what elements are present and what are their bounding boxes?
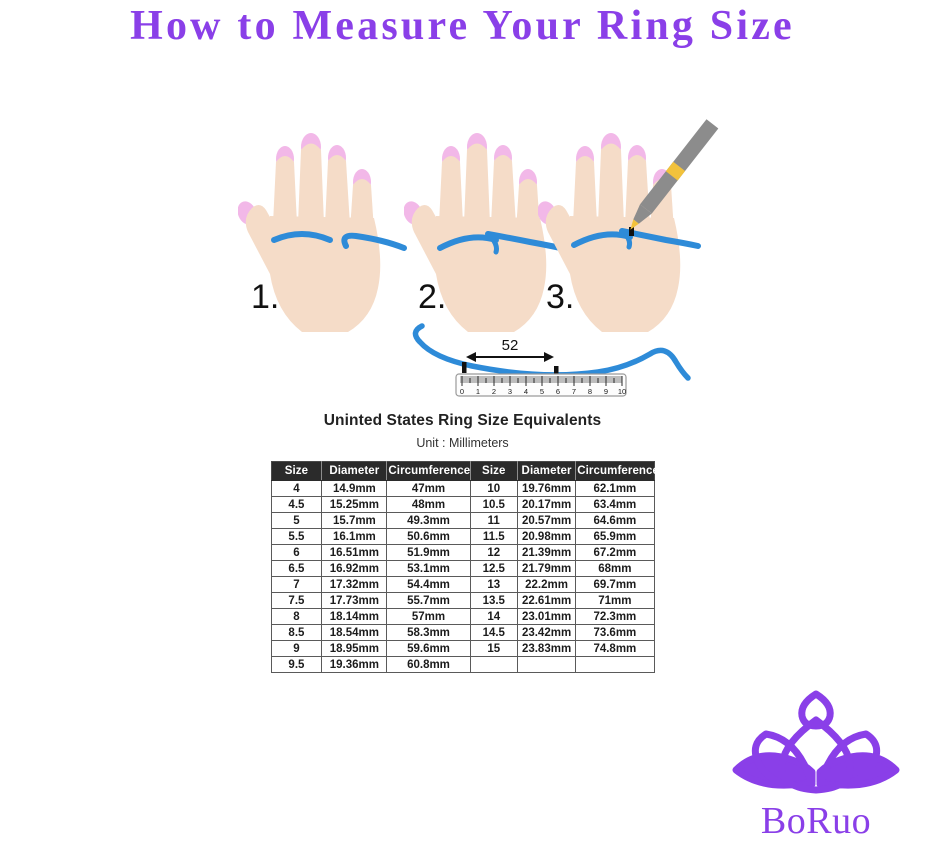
table-cell: 20.98mm — [517, 529, 575, 545]
instruction-illustration: 1. 2. — [0, 95, 925, 415]
table-cell: 73.6mm — [576, 625, 654, 641]
table-cell: 9 — [271, 641, 322, 657]
table-cell: 11.5 — [470, 529, 517, 545]
lotus-flower-icon — [716, 686, 916, 804]
table-cell: 16.51mm — [322, 545, 387, 561]
boruo-logo: BoRuo — [716, 686, 916, 838]
col-header-diameter-right: Diameter — [517, 462, 575, 481]
table-cell: 49.3mm — [387, 513, 470, 529]
table-title: Uninted States Ring Size Equivalents — [0, 412, 925, 430]
table-cell: 50.6mm — [387, 529, 470, 545]
table-cell: 67.2mm — [576, 545, 654, 561]
col-header-diameter-left: Diameter — [322, 462, 387, 481]
ruler-tick-label: 10 — [618, 387, 626, 396]
boruo-wordmark: BoRuo — [716, 802, 916, 840]
table-row: 918.95mm59.6mm1523.83mm74.8mm — [271, 641, 654, 657]
table-cell: 18.54mm — [322, 625, 387, 641]
table-cell: 15 — [470, 641, 517, 657]
table-cell: 14 — [470, 609, 517, 625]
table-cell: 7 — [271, 577, 322, 593]
table-unit-label: Unit : Millimeters — [0, 436, 925, 450]
step-number-1: 1. — [251, 280, 279, 314]
table-cell: 19.76mm — [517, 481, 575, 497]
table-cell: 16.1mm — [322, 529, 387, 545]
col-header-size-left: Size — [271, 462, 322, 481]
ruler-tick-label: 5 — [540, 387, 544, 396]
ruler-tick-label: 2 — [492, 387, 496, 396]
step-number-2: 2. — [418, 280, 446, 314]
table-cell: 62.1mm — [576, 481, 654, 497]
table-cell: 58.3mm — [387, 625, 470, 641]
table-row: 717.32mm54.4mm1322.2mm69.7mm — [271, 577, 654, 593]
table-cell: 20.57mm — [517, 513, 575, 529]
ruler-tick-label: 9 — [604, 387, 608, 396]
table-cell: 18.95mm — [322, 641, 387, 657]
table-row: 5.516.1mm50.6mm11.520.98mm65.9mm — [271, 529, 654, 545]
table-cell: 21.39mm — [517, 545, 575, 561]
table-cell: 19.36mm — [322, 657, 387, 673]
table-row: 6.516.92mm53.1mm12.521.79mm68mm — [271, 561, 654, 577]
table-cell: 12.5 — [470, 561, 517, 577]
page-title: How to Measure Your Ring Size — [0, 2, 925, 50]
table-cell: 6 — [271, 545, 322, 561]
ruler-tick-label: 1 — [476, 387, 480, 396]
ruler-tick-label: 3 — [508, 387, 512, 396]
table-cell: 13 — [470, 577, 517, 593]
col-header-circumference-right: Circumference — [576, 462, 654, 481]
table-cell: 69.7mm — [576, 577, 654, 593]
table-cell: 16.92mm — [322, 561, 387, 577]
ring-size-table: Size Diameter Circumference Size Diamete… — [271, 461, 655, 673]
col-header-circumference-left: Circumference — [387, 462, 470, 481]
col-header-size-right: Size — [470, 462, 517, 481]
table-cell: 4.5 — [271, 497, 322, 513]
table-row: 616.51mm51.9mm1221.39mm67.2mm — [271, 545, 654, 561]
table-cell: 5.5 — [271, 529, 322, 545]
table-cell: 53.1mm — [387, 561, 470, 577]
table-cell: 14.5 — [470, 625, 517, 641]
ruler-tick-label: 8 — [588, 387, 592, 396]
table-cell: 8 — [271, 609, 322, 625]
table-cell: 54.4mm — [387, 577, 470, 593]
table-cell: 18.14mm — [322, 609, 387, 625]
table-cell: 23.42mm — [517, 625, 575, 641]
table-cell: 22.2mm — [517, 577, 575, 593]
table-row: 9.519.36mm60.8mm — [271, 657, 654, 673]
table-row: 515.7mm49.3mm1120.57mm64.6mm — [271, 513, 654, 529]
table-cell — [470, 657, 517, 673]
table-cell: 74.8mm — [576, 641, 654, 657]
table-header-row: Size Diameter Circumference Size Diamete… — [271, 462, 654, 481]
ruler-tick-label: 0 — [460, 387, 464, 396]
string-ruler-diagram: 52 0 1 2 3 4 — [400, 320, 700, 400]
table-cell — [576, 657, 654, 673]
ruler-tick-label: 6 — [556, 387, 560, 396]
table-cell: 12 — [470, 545, 517, 561]
ruler-tick-label: 4 — [524, 387, 528, 396]
table-cell: 64.6mm — [576, 513, 654, 529]
table-cell: 47mm — [387, 481, 470, 497]
table-cell: 48mm — [387, 497, 470, 513]
table-cell: 60.8mm — [387, 657, 470, 673]
table-cell: 17.73mm — [322, 593, 387, 609]
table-cell: 57mm — [387, 609, 470, 625]
table-cell: 17.32mm — [322, 577, 387, 593]
table-cell: 7.5 — [271, 593, 322, 609]
table-cell: 68mm — [576, 561, 654, 577]
table-cell: 55.7mm — [387, 593, 470, 609]
table-cell: 21.79mm — [517, 561, 575, 577]
table-cell: 5 — [271, 513, 322, 529]
table-cell: 8.5 — [271, 625, 322, 641]
string-measure-label: 52 — [502, 337, 519, 354]
table-row: 7.517.73mm55.7mm13.522.61mm71mm — [271, 593, 654, 609]
table-cell: 20.17mm — [517, 497, 575, 513]
table-cell: 4 — [271, 481, 322, 497]
table-cell: 15.7mm — [322, 513, 387, 529]
table-cell: 14.9mm — [322, 481, 387, 497]
table-cell: 72.3mm — [576, 609, 654, 625]
table-cell: 59.6mm — [387, 641, 470, 657]
step-number-3: 3. — [546, 280, 574, 314]
table-cell: 63.4mm — [576, 497, 654, 513]
table-row: 414.9mm47mm1019.76mm62.1mm — [271, 481, 654, 497]
table-row: 818.14mm57mm1423.01mm72.3mm — [271, 609, 654, 625]
table-cell: 51.9mm — [387, 545, 470, 561]
table-cell: 23.01mm — [517, 609, 575, 625]
table-cell: 9.5 — [271, 657, 322, 673]
table-cell: 22.61mm — [517, 593, 575, 609]
table-row: 8.518.54mm58.3mm14.523.42mm73.6mm — [271, 625, 654, 641]
table-cell — [517, 657, 575, 673]
table-cell: 65.9mm — [576, 529, 654, 545]
table-cell: 6.5 — [271, 561, 322, 577]
table-cell: 15.25mm — [322, 497, 387, 513]
table-cell: 10 — [470, 481, 517, 497]
table-cell: 10.5 — [470, 497, 517, 513]
table-cell: 23.83mm — [517, 641, 575, 657]
table-cell: 13.5 — [470, 593, 517, 609]
table-cell: 11 — [470, 513, 517, 529]
ring-size-table-block: Uninted States Ring Size Equivalents Uni… — [0, 412, 925, 673]
ruler-tick-label: 7 — [572, 387, 576, 396]
table-cell: 71mm — [576, 593, 654, 609]
table-row: 4.515.25mm48mm10.520.17mm63.4mm — [271, 497, 654, 513]
